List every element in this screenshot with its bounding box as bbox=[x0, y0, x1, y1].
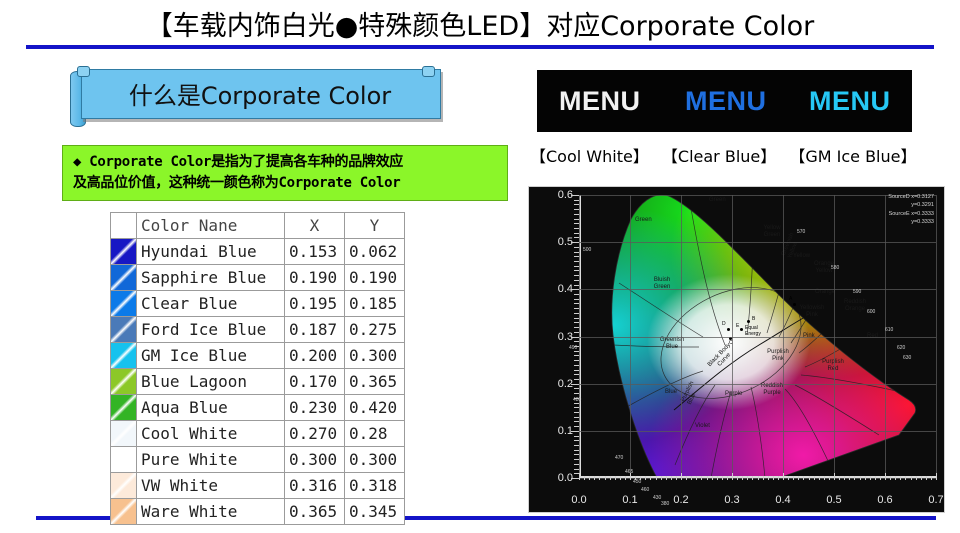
cie-wavelength-label: 600 bbox=[867, 309, 875, 315]
color-name-cell: Hyundai Blue bbox=[137, 239, 285, 265]
cie-y-minor-tick bbox=[574, 450, 579, 451]
color-name-cell: Ford Ice Blue bbox=[137, 317, 285, 343]
cie-point-b-label: B bbox=[752, 316, 755, 322]
color-x-cell: 0.270 bbox=[285, 421, 345, 447]
cie-x-minor-tick bbox=[916, 476, 917, 480]
cie-x-minor-tick bbox=[742, 476, 743, 480]
cie-y-minor-tick bbox=[574, 313, 579, 314]
note-line-2: 及高品位价值，这种统一颜色称为Corporate Color bbox=[73, 173, 507, 194]
color-x-cell: 0.195 bbox=[285, 291, 345, 317]
cie-x-tick: 0.6 bbox=[867, 494, 903, 506]
cie-x-minor-tick bbox=[615, 476, 616, 480]
cie-x-tick: 0.4 bbox=[765, 494, 801, 506]
color-x-cell: 0.187 bbox=[285, 317, 345, 343]
color-y-cell: 0.420 bbox=[345, 395, 405, 421]
cie-x-minor-tick bbox=[661, 476, 662, 480]
cie-y-minor-tick bbox=[574, 237, 579, 238]
cie-y-minor-tick bbox=[574, 200, 579, 201]
cie-x-minor-tick bbox=[656, 476, 657, 480]
cie-y-minor-tick bbox=[571, 195, 579, 196]
cie-wavelength-label: 460 bbox=[641, 487, 649, 493]
color-swatch-cell bbox=[111, 499, 137, 525]
cie-x-tick: 0.5 bbox=[816, 494, 852, 506]
cie-x-minor-tick bbox=[763, 476, 764, 480]
cie-x-minor-tick bbox=[773, 476, 774, 480]
color-swatch bbox=[111, 421, 136, 446]
color-x-cell: 0.316 bbox=[285, 473, 345, 499]
table-row: GM Ice Blue0.2000.300 bbox=[111, 343, 405, 369]
cie-x-minor-tick bbox=[778, 476, 779, 480]
cie-y-minor-tick bbox=[574, 294, 579, 295]
cie-y-minor-tick bbox=[574, 379, 579, 380]
color-swatch-cell bbox=[111, 239, 137, 265]
cie-x-minor-tick bbox=[594, 476, 595, 480]
cie-wavelength-label: 590 bbox=[853, 289, 861, 295]
caption-clear-blue: 【Clear Blue】 bbox=[662, 147, 776, 166]
cie-gridline-v bbox=[783, 195, 784, 478]
cie-x-minor-tick bbox=[650, 476, 651, 480]
cie-y-tick: 0.1 bbox=[533, 425, 573, 437]
cie-gridline-h bbox=[579, 289, 936, 290]
cie-y-minor-tick bbox=[574, 346, 579, 347]
cie-x-minor-tick bbox=[875, 476, 876, 480]
color-name-cell: Blue Lagoon bbox=[137, 369, 285, 395]
cie-y-minor-tick bbox=[574, 204, 579, 205]
cie-y-tick: 0.6 bbox=[533, 189, 573, 201]
page-title: 【车载内饰白光●特殊颜色LED】对应Corporate Color bbox=[0, 4, 960, 43]
cie-x-minor-tick bbox=[701, 476, 702, 480]
color-x-cell: 0.365 bbox=[285, 499, 345, 525]
cie-x-minor-tick bbox=[645, 476, 646, 480]
cie-x-minor-tick bbox=[829, 476, 830, 480]
color-swatch bbox=[111, 499, 136, 524]
cie-y-minor-tick bbox=[574, 275, 579, 276]
cie-x-minor-tick bbox=[844, 476, 845, 480]
color-x-cell: 0.300 bbox=[285, 447, 345, 473]
cie-x-minor-tick bbox=[676, 476, 677, 480]
note-box: ◆ Corporate Color是指为了提高各车种的品牌效应 及高品位价值，这… bbox=[62, 145, 508, 201]
table-row: Pure White0.3000.300 bbox=[111, 447, 405, 473]
cie-gridline-h bbox=[579, 195, 936, 196]
cie-x-tick: 0.3 bbox=[714, 494, 750, 506]
cie-wavelength-label: 610 bbox=[885, 327, 893, 333]
table-header-cell-3: Y bbox=[345, 213, 405, 239]
color-swatch bbox=[111, 265, 136, 290]
cie-y-minor-tick bbox=[574, 214, 579, 215]
cie-y-minor-tick bbox=[574, 436, 579, 437]
cie-x-minor-tick bbox=[809, 476, 810, 480]
cie-y-minor-tick bbox=[574, 256, 579, 257]
cie-gridline-v bbox=[579, 195, 580, 478]
cie-y-minor-tick bbox=[574, 388, 579, 389]
cie-x-minor-tick bbox=[686, 476, 687, 480]
cie-x-minor-tick bbox=[707, 476, 708, 480]
color-name-cell: Clear Blue bbox=[137, 291, 285, 317]
cie-gridline-v bbox=[732, 195, 733, 478]
cie-x-minor-tick bbox=[747, 476, 748, 480]
cie-point-b bbox=[747, 320, 750, 323]
cie-x-minor-tick bbox=[722, 476, 723, 480]
color-swatch-cell bbox=[111, 395, 137, 421]
menu-photo-caption: 【Cool White】 【Clear Blue】 【GM Ice Blue】 bbox=[530, 143, 950, 167]
cie-y-minor-tick bbox=[574, 469, 579, 470]
cie-y-minor-tick bbox=[574, 299, 579, 300]
color-swatch bbox=[111, 473, 136, 498]
caption-cool-white: 【Cool White】 bbox=[530, 147, 649, 166]
cie-x-minor-tick bbox=[671, 476, 672, 480]
cie-y-tick: 0.2 bbox=[533, 378, 573, 390]
cie-x-minor-tick bbox=[630, 473, 631, 480]
cie-x-minor-tick bbox=[885, 473, 886, 480]
cie-x-minor-tick bbox=[610, 476, 611, 480]
color-name-cell: Cool White bbox=[137, 421, 285, 447]
cie-equal-energy-label: Equal Energy bbox=[745, 326, 767, 337]
color-swatch-cell bbox=[111, 291, 137, 317]
cie-x-minor-tick bbox=[666, 476, 667, 480]
cie-y-minor-tick bbox=[574, 421, 579, 422]
cie-x-minor-tick bbox=[712, 476, 713, 480]
color-x-cell: 0.200 bbox=[285, 343, 345, 369]
table-row: Aqua Blue0.2300.420 bbox=[111, 395, 405, 421]
cie-wavelength-label: 620 bbox=[897, 345, 905, 351]
cie-x-minor-tick bbox=[900, 476, 901, 480]
cie-y-minor-tick bbox=[574, 233, 579, 234]
cie-point-d-label: D bbox=[722, 321, 726, 327]
cie-y-minor-tick bbox=[574, 252, 579, 253]
cie-wavelength-label: 500 bbox=[583, 247, 591, 253]
cie-gridline-h bbox=[579, 431, 936, 432]
caption-gm-ice-blue: 【GM Ice Blue】 bbox=[789, 147, 916, 166]
cie-y-minor-tick bbox=[574, 360, 579, 361]
color-name-cell: Ware White bbox=[137, 499, 285, 525]
color-name-cell: Pure White bbox=[137, 447, 285, 473]
corporate-color-table: Color NaneXYHyundai Blue0.1530.062Sapphi… bbox=[110, 212, 405, 525]
cie-x-minor-tick bbox=[584, 476, 585, 480]
cie-x-minor-tick bbox=[752, 476, 753, 480]
table-header-row: Color NaneXY bbox=[111, 213, 405, 239]
cie-x-minor-tick bbox=[717, 476, 718, 480]
cie-y-minor-tick bbox=[574, 370, 579, 371]
menu-photo: MENU MENU MENU bbox=[537, 70, 912, 132]
table-header-cell-0 bbox=[111, 213, 137, 239]
cie-point-e bbox=[740, 328, 743, 331]
cie-x-minor-tick bbox=[732, 473, 733, 480]
menu-word-clear-blue: MENU bbox=[685, 86, 767, 117]
cie-y-minor-tick bbox=[571, 384, 579, 385]
cie-x-minor-tick bbox=[788, 476, 789, 480]
cie-chromaticity-chart: Green Green Yellow Green Greenish Yellow… bbox=[528, 186, 945, 513]
cie-gridline-h bbox=[579, 384, 936, 385]
cie-y-minor-tick bbox=[574, 318, 579, 319]
cie-y-minor-tick bbox=[571, 431, 579, 432]
cie-x-minor-tick bbox=[931, 476, 932, 480]
cie-y-minor-tick bbox=[574, 407, 579, 408]
cie-x-minor-tick bbox=[911, 476, 912, 480]
banner-callout: 什么是Corporate Color bbox=[70, 69, 442, 125]
color-y-cell: 0.300 bbox=[345, 343, 405, 369]
color-swatch-cell bbox=[111, 317, 137, 343]
cie-y-minor-tick bbox=[574, 403, 579, 404]
cie-x-minor-tick bbox=[640, 476, 641, 480]
cie-wavelength-label: 380 bbox=[661, 501, 669, 507]
cie-y-minor-tick bbox=[574, 261, 579, 262]
cie-y-minor-tick bbox=[574, 247, 579, 248]
cie-y-minor-tick bbox=[574, 355, 579, 356]
cie-x-tick: 0.1 bbox=[612, 494, 648, 506]
cie-y-tick: 0.3 bbox=[533, 331, 573, 343]
color-name-cell: Aqua Blue bbox=[137, 395, 285, 421]
cie-x-minor-tick bbox=[849, 476, 850, 480]
cie-y-minor-tick bbox=[574, 341, 579, 342]
color-swatch bbox=[111, 239, 136, 264]
table-header-cell-1: Color Nane bbox=[137, 213, 285, 239]
color-swatch-cell bbox=[111, 265, 137, 291]
cie-y-minor-tick bbox=[574, 270, 579, 271]
color-swatch bbox=[111, 395, 136, 420]
cie-x-minor-tick bbox=[834, 473, 835, 480]
cie-y-minor-tick bbox=[574, 473, 579, 474]
cie-source-annotation: SourceD x=0.3127 y=0.3291 SourceE x=0.33… bbox=[888, 193, 934, 226]
color-y-cell: 0.185 bbox=[345, 291, 405, 317]
cie-gridline-v bbox=[630, 195, 631, 478]
table-row: Clear Blue0.1950.185 bbox=[111, 291, 405, 317]
cie-x-minor-tick bbox=[926, 476, 927, 480]
cie-x-minor-tick bbox=[783, 473, 784, 480]
color-swatch-cell bbox=[111, 343, 137, 369]
cie-x-minor-tick bbox=[880, 476, 881, 480]
cie-x-minor-tick bbox=[793, 476, 794, 480]
cie-y-minor-tick bbox=[571, 337, 579, 338]
table-row: Blue Lagoon0.1700.365 bbox=[111, 369, 405, 395]
cie-x-minor-tick bbox=[870, 476, 871, 480]
cie-y-minor-tick bbox=[574, 426, 579, 427]
menu-word-gm-ice-blue: MENU bbox=[809, 86, 891, 117]
color-swatch bbox=[111, 343, 136, 368]
cie-point-d bbox=[727, 328, 730, 331]
cie-y-minor-tick bbox=[574, 417, 579, 418]
cie-x-minor-tick bbox=[635, 476, 636, 480]
color-swatch bbox=[111, 317, 136, 342]
cie-y-minor-tick bbox=[574, 332, 579, 333]
cie-x-minor-tick bbox=[599, 476, 600, 480]
cie-y-minor-tick bbox=[571, 289, 579, 290]
cie-x-tick: 0.0 bbox=[561, 494, 597, 506]
table-row: VW White0.3160.318 bbox=[111, 473, 405, 499]
cie-x-minor-tick bbox=[890, 476, 891, 480]
menu-word-cool-white: MENU bbox=[559, 86, 641, 117]
cie-gridline-v bbox=[885, 195, 886, 478]
cie-y-minor-tick bbox=[574, 219, 579, 220]
divider-top bbox=[26, 45, 934, 49]
cie-x-minor-tick bbox=[921, 476, 922, 480]
cie-x-minor-tick bbox=[905, 476, 906, 480]
cie-x-minor-tick bbox=[681, 473, 682, 480]
cie-y-minor-tick bbox=[574, 223, 579, 224]
cie-x-minor-tick bbox=[936, 473, 937, 480]
cie-y-minor-tick bbox=[574, 280, 579, 281]
color-y-cell: 0.300 bbox=[345, 447, 405, 473]
cie-y-minor-tick bbox=[574, 228, 579, 229]
cie-y-minor-tick bbox=[574, 209, 579, 210]
color-y-cell: 0.365 bbox=[345, 369, 405, 395]
table-row: Hyundai Blue0.1530.062 bbox=[111, 239, 405, 265]
color-swatch-cell bbox=[111, 421, 137, 447]
color-x-cell: 0.230 bbox=[285, 395, 345, 421]
color-name-cell: VW White bbox=[137, 473, 285, 499]
cie-y-minor-tick bbox=[574, 365, 579, 366]
cie-y-minor-tick bbox=[574, 440, 579, 441]
cie-x-minor-tick bbox=[798, 476, 799, 480]
cie-x-minor-tick bbox=[727, 476, 728, 480]
cie-y-minor-tick bbox=[574, 393, 579, 394]
cie-x-minor-tick bbox=[839, 476, 840, 480]
cie-y-minor-tick bbox=[574, 285, 579, 286]
color-y-cell: 0.190 bbox=[345, 265, 405, 291]
table-row: Sapphire Blue0.1900.190 bbox=[111, 265, 405, 291]
note-line-1: ◆ Corporate Color是指为了提高各车种的品牌效应 bbox=[73, 152, 507, 173]
cie-wavelength-label: 630 bbox=[903, 355, 911, 361]
color-y-cell: 0.275 bbox=[345, 317, 405, 343]
cie-y-minor-tick bbox=[574, 398, 579, 399]
cie-y-minor-tick bbox=[574, 322, 579, 323]
cie-x-minor-tick bbox=[768, 476, 769, 480]
cie-x-minor-tick bbox=[737, 476, 738, 480]
cie-x-minor-tick bbox=[895, 476, 896, 480]
cie-y-minor-tick bbox=[574, 266, 579, 267]
color-swatch bbox=[111, 447, 136, 472]
cie-y-minor-tick bbox=[571, 242, 579, 243]
cie-y-tick: 0.4 bbox=[533, 283, 573, 295]
cie-y-tick: 0.0 bbox=[533, 472, 573, 484]
color-swatch-cell bbox=[111, 369, 137, 395]
cie-gridline-v bbox=[681, 195, 682, 478]
cie-x-minor-tick bbox=[824, 476, 825, 480]
cie-wavelength-label: 570 bbox=[797, 229, 805, 235]
color-x-cell: 0.170 bbox=[285, 369, 345, 395]
color-x-cell: 0.190 bbox=[285, 265, 345, 291]
cie-y-minor-tick bbox=[571, 478, 579, 479]
color-y-cell: 0.345 bbox=[345, 499, 405, 525]
cie-x-minor-tick bbox=[691, 476, 692, 480]
table-row: Ford Ice Blue0.1870.275 bbox=[111, 317, 405, 343]
table-row: Ware White0.3650.345 bbox=[111, 499, 405, 525]
cie-y-minor-tick bbox=[574, 374, 579, 375]
color-name-cell: GM Ice Blue bbox=[137, 343, 285, 369]
cie-x-minor-tick bbox=[865, 476, 866, 480]
cie-gridline-v bbox=[834, 195, 835, 478]
cie-y-minor-tick bbox=[574, 303, 579, 304]
cie-x-minor-tick bbox=[589, 476, 590, 480]
slide-root: 【车载内饰白光●特殊颜色LED】对应Corporate Color 什么是Cor… bbox=[0, 0, 960, 533]
banner-text: 什么是Corporate Color bbox=[81, 69, 439, 117]
cie-x-minor-tick bbox=[605, 476, 606, 480]
cie-y-minor-tick bbox=[574, 464, 579, 465]
color-swatch bbox=[111, 291, 136, 316]
cie-y-minor-tick bbox=[574, 445, 579, 446]
cie-x-minor-tick bbox=[696, 476, 697, 480]
cie-gridline-v bbox=[936, 195, 937, 478]
color-y-cell: 0.28 bbox=[345, 421, 405, 447]
table-row: Cool White0.2700.28 bbox=[111, 421, 405, 447]
cie-point-a-label: A bbox=[789, 296, 792, 302]
cie-y-minor-tick bbox=[574, 351, 579, 352]
color-swatch-cell bbox=[111, 473, 137, 499]
cie-y-minor-tick bbox=[574, 454, 579, 455]
cie-gridline-h bbox=[579, 242, 936, 243]
color-y-cell: 0.318 bbox=[345, 473, 405, 499]
cie-gridline-h bbox=[579, 337, 936, 338]
color-name-cell: Sapphire Blue bbox=[137, 265, 285, 291]
cie-y-tick: 0.5 bbox=[533, 236, 573, 248]
cie-x-tick: 0.7 bbox=[918, 494, 945, 506]
color-x-cell: 0.153 bbox=[285, 239, 345, 265]
cie-x-minor-tick bbox=[860, 476, 861, 480]
cie-point-e-label: E bbox=[736, 323, 739, 329]
cie-x-minor-tick bbox=[625, 476, 626, 480]
color-swatch bbox=[111, 369, 136, 394]
cie-x-minor-tick bbox=[620, 476, 621, 480]
cie-y-minor-tick bbox=[574, 412, 579, 413]
color-swatch-cell bbox=[111, 447, 137, 473]
cie-x-minor-tick bbox=[854, 476, 855, 480]
cie-wavelength-label: 580 bbox=[831, 265, 839, 271]
cie-wavelength-label: 470 bbox=[615, 455, 623, 461]
cie-x-minor-tick bbox=[814, 476, 815, 480]
cie-x-minor-tick bbox=[819, 476, 820, 480]
cie-x-minor-tick bbox=[803, 476, 804, 480]
cie-x-minor-tick bbox=[758, 476, 759, 480]
color-y-cell: 0.062 bbox=[345, 239, 405, 265]
table-header-cell-2: X bbox=[285, 213, 345, 239]
cie-y-minor-tick bbox=[574, 459, 579, 460]
cie-x-minor-tick bbox=[579, 473, 580, 480]
cie-y-minor-tick bbox=[574, 327, 579, 328]
cie-y-minor-tick bbox=[574, 308, 579, 309]
cie-point-a bbox=[793, 303, 796, 306]
